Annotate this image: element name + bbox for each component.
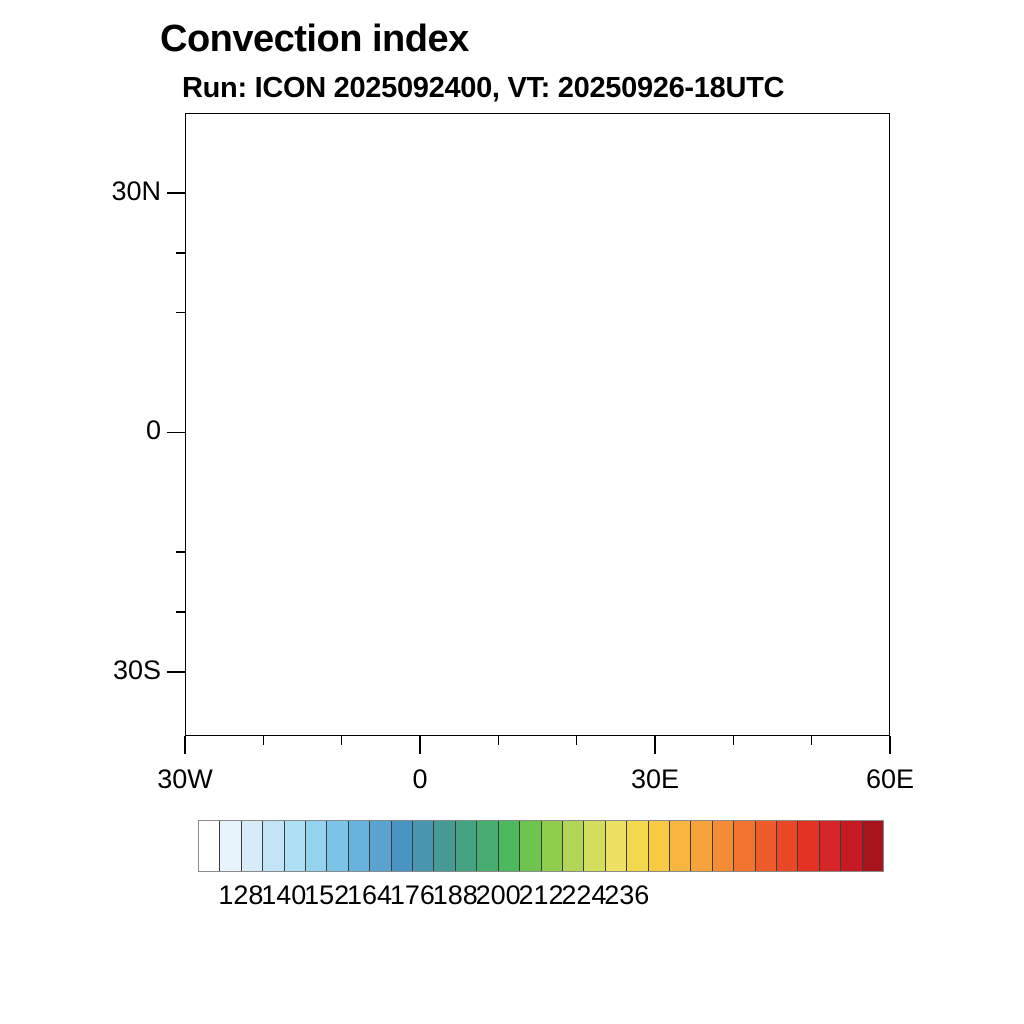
x-tick-label-30W: 30W [125, 764, 245, 795]
colorbar-cell-0 [199, 821, 220, 871]
convection-index-map-page: Convection index Run: ICON 2025092400, V… [0, 0, 1024, 1024]
colorbar-cell-22 [670, 821, 691, 871]
colorbar-cell-18 [584, 821, 605, 871]
convection-index-raster [186, 114, 889, 735]
y-tick-1 [176, 252, 185, 254]
colorbar-cell-10 [413, 821, 434, 871]
colorbar-cell-7 [349, 821, 370, 871]
colorbar-cell-6 [327, 821, 348, 871]
x-tick-4 [498, 736, 500, 745]
colorbar-cell-24 [713, 821, 734, 871]
x-tick-0 [184, 736, 186, 754]
x-tick-9 [889, 736, 891, 754]
colorbar-cell-21 [649, 821, 670, 871]
colorbar-cell-23 [691, 821, 712, 871]
y-tick-label-30S: 30S [21, 655, 161, 686]
x-tick-5 [576, 736, 578, 745]
page-title: Convection index [160, 18, 469, 61]
y-tick-2 [176, 312, 185, 314]
colorbar-cell-1 [220, 821, 241, 871]
colorbar-cell-19 [606, 821, 627, 871]
y-tick-3 [167, 432, 185, 434]
run-valid-time-subtitle: Run: ICON 2025092400, VT: 20250926-18UTC [182, 72, 784, 105]
colorbar-cell-25 [734, 821, 755, 871]
colorbar-cell-14 [499, 821, 520, 871]
colorbar-cell-11 [434, 821, 455, 871]
colorbar-cell-2 [242, 821, 263, 871]
x-tick-3 [419, 736, 421, 754]
colorbar-cell-28 [798, 821, 819, 871]
y-tick-6 [167, 671, 185, 673]
colorbar-cell-8 [370, 821, 391, 871]
colorbar-cell-30 [841, 821, 862, 871]
x-tick-8 [811, 736, 813, 745]
x-tick-label-30E: 30E [595, 764, 715, 795]
colorbar-cell-31 [863, 821, 883, 871]
y-tick-0 [167, 192, 185, 194]
y-tick-label-30N: 30N [21, 176, 161, 207]
colorbar-cell-9 [392, 821, 413, 871]
map-plot-frame [185, 113, 890, 736]
colorbar-cell-27 [777, 821, 798, 871]
colorbar-cell-3 [263, 821, 284, 871]
colorbar-cell-13 [477, 821, 498, 871]
colorbar-cell-12 [456, 821, 477, 871]
x-tick-6 [654, 736, 656, 754]
y-tick-4 [176, 551, 185, 553]
x-tick-1 [263, 736, 265, 745]
colorbar-label-236: 236 [577, 880, 677, 911]
colorbar [198, 820, 884, 872]
colorbar-cell-17 [563, 821, 584, 871]
x-tick-2 [341, 736, 343, 745]
colorbar-cell-5 [306, 821, 327, 871]
colorbar-cell-26 [756, 821, 777, 871]
x-tick-label-60E: 60E [830, 764, 950, 795]
colorbar-cell-20 [627, 821, 648, 871]
colorbar-cell-15 [520, 821, 541, 871]
colorbar-cell-29 [820, 821, 841, 871]
colorbar-cell-4 [285, 821, 306, 871]
x-tick-label-0: 0 [360, 764, 480, 795]
y-tick-5 [176, 611, 185, 613]
y-tick-label-0: 0 [21, 415, 161, 446]
colorbar-cell-16 [542, 821, 563, 871]
x-tick-7 [733, 736, 735, 745]
